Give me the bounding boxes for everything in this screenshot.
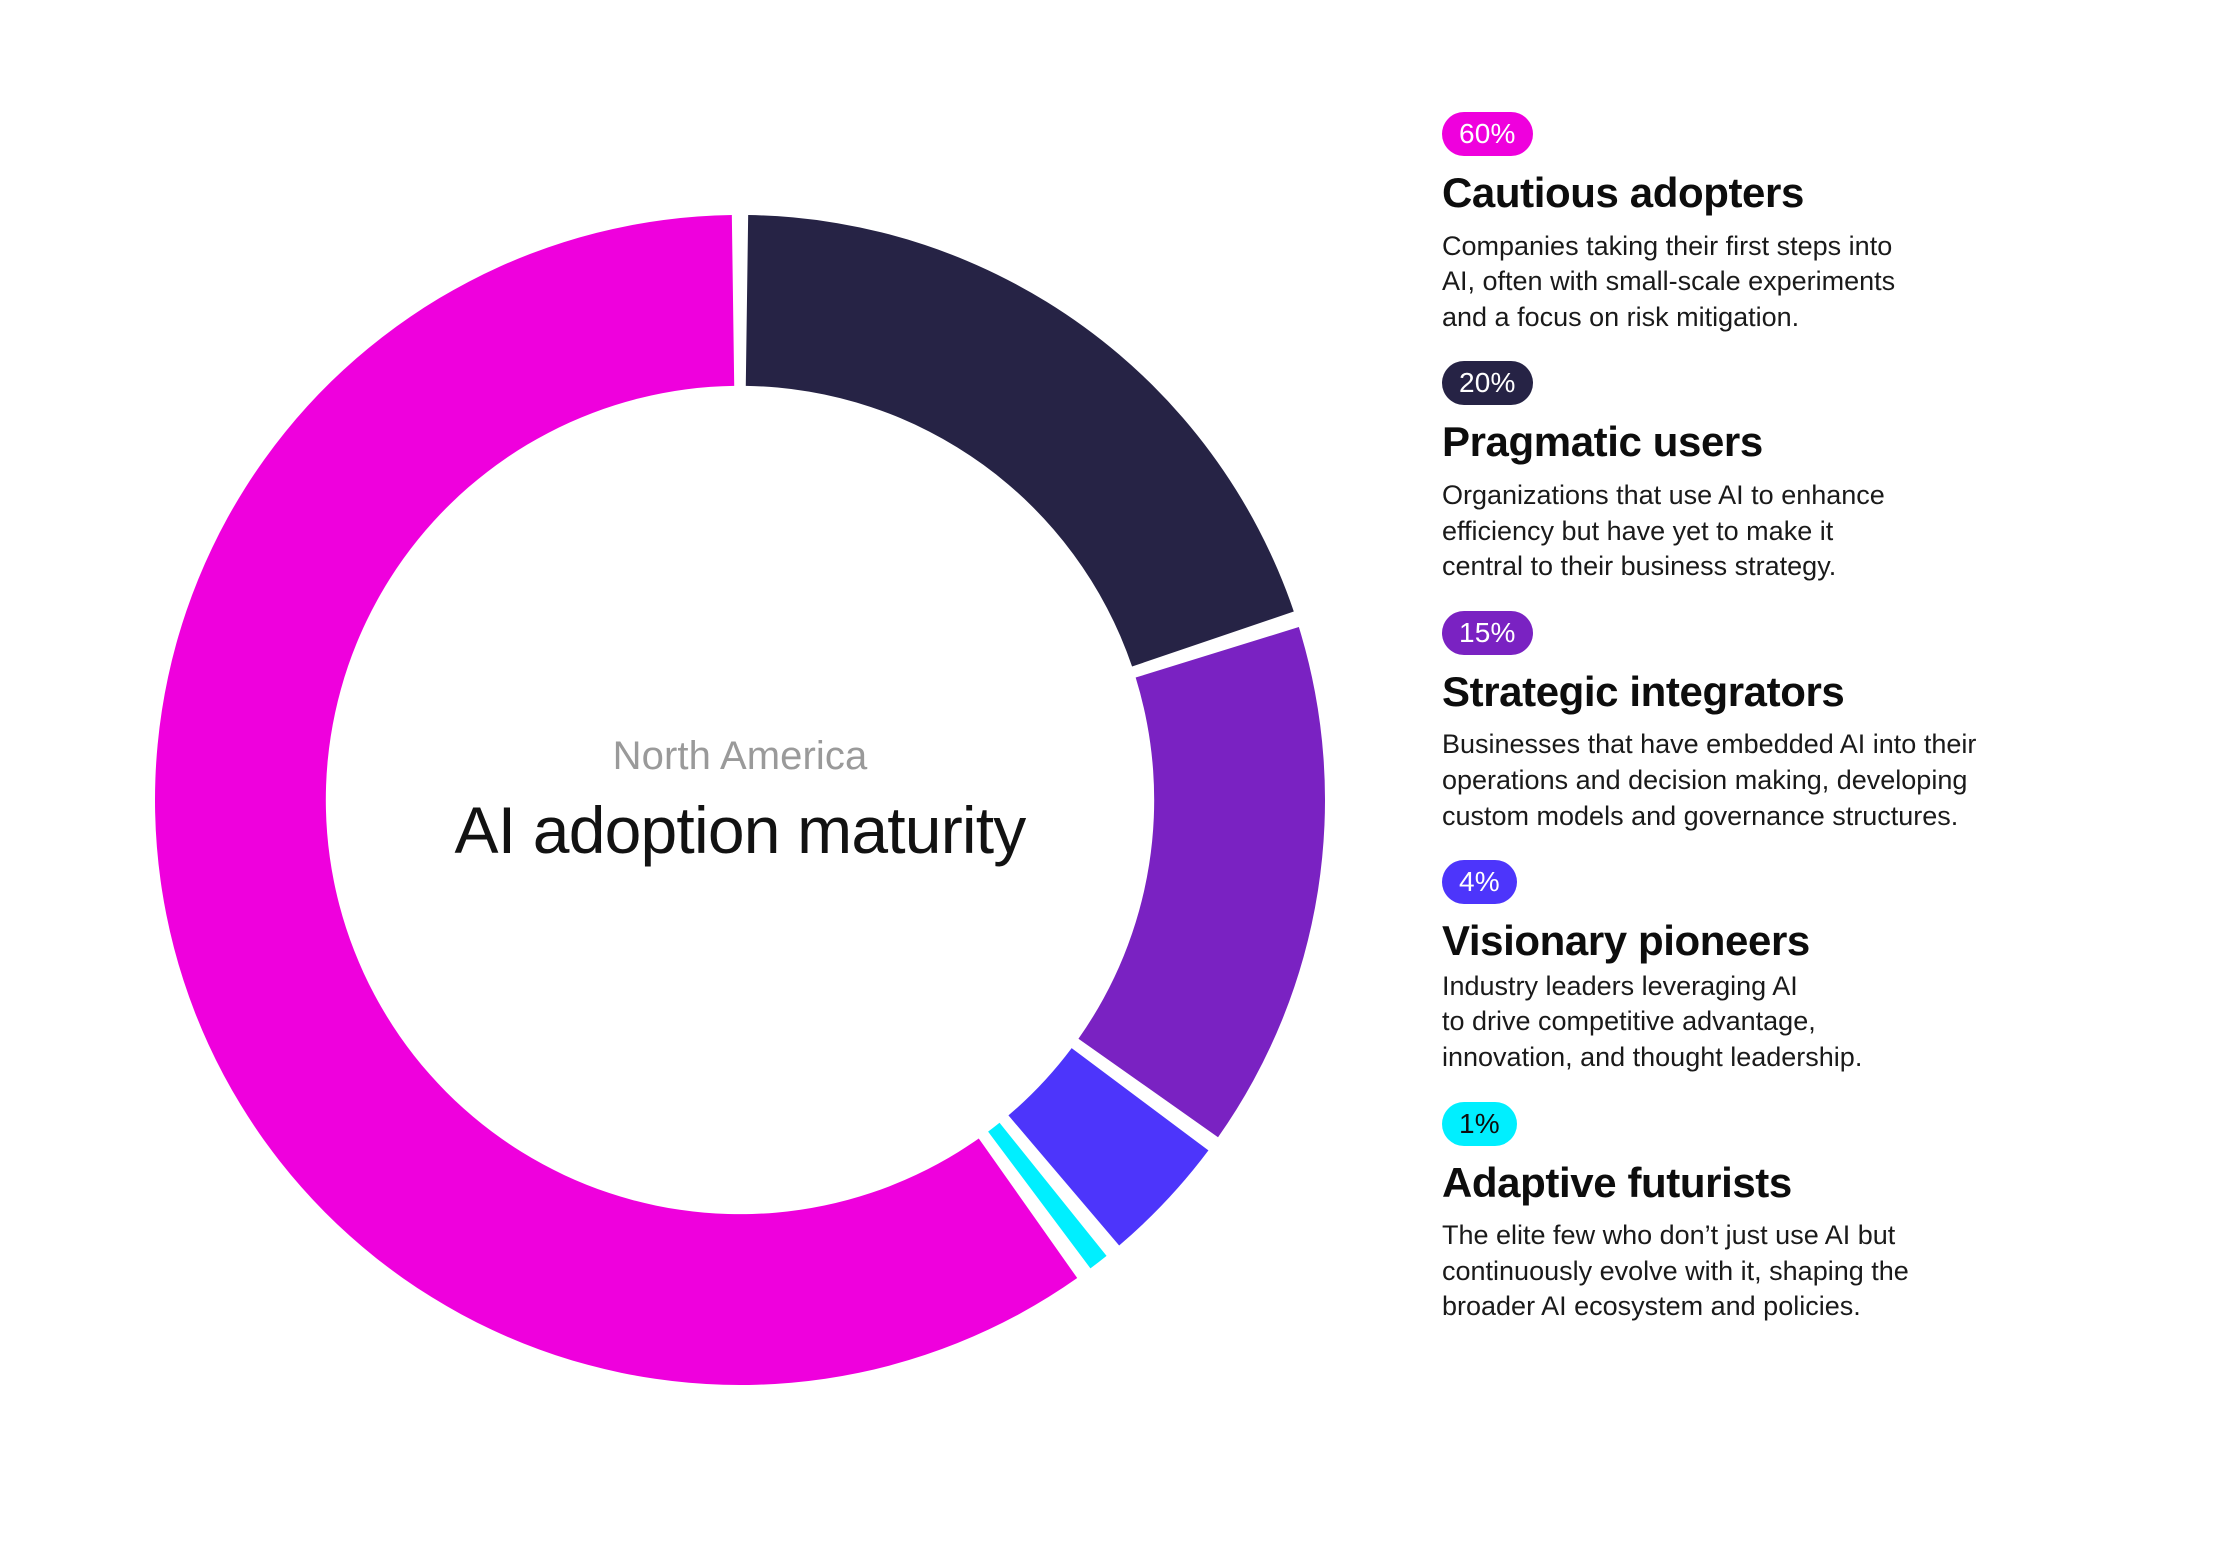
legend-item[interactable]: 20%Pragmatic usersOrganizations that use… [1442,361,2142,584]
donut-chart-svg [155,215,1325,1385]
percentage-badge: 1% [1442,1102,1517,1146]
legend-item-description: Companies taking their first steps into … [1442,229,2142,336]
donut-slice-group [155,215,1325,1385]
legend-item-title: Strategic integrators [1442,667,2142,717]
legend-item-description: Businesses that have embedded AI into th… [1442,727,2142,834]
legend-item[interactable]: 1%Adaptive futuristsThe elite few who do… [1442,1102,2142,1325]
legend-item-title: Visionary pioneers [1442,916,2142,966]
infographic-page: North America AI adoption maturity 60%Ca… [0,0,2228,1560]
donut-chart: North America AI adoption maturity [155,215,1325,1385]
legend-item-description: The elite few who don’t just use AI but … [1442,1218,2142,1325]
percentage-badge: 15% [1442,611,1533,655]
legend-item-description: Organizations that use AI to enhance eff… [1442,478,2142,585]
legend-item-title: Adaptive futurists [1442,1158,2142,1208]
percentage-badge: 20% [1442,361,1533,405]
percentage-badge: 60% [1442,112,1533,156]
donut-slice[interactable] [746,215,1294,666]
legend-item-title: Pragmatic users [1442,417,2142,467]
legend-item-description: Industry leaders leveraging AI to drive … [1442,969,2142,1076]
legend-item[interactable]: 60%Cautious adoptersCompanies taking the… [1442,112,2142,335]
legend-item-title: Cautious adopters [1442,168,2142,218]
percentage-badge: 4% [1442,860,1517,904]
legend-list: 60%Cautious adoptersCompanies taking the… [1442,112,2142,1325]
legend-item[interactable]: 4%Visionary pioneersIndustry leaders lev… [1442,860,2142,1075]
legend-item[interactable]: 15%Strategic integratorsBusinesses that … [1442,611,2142,834]
donut-slice[interactable] [1078,627,1325,1137]
